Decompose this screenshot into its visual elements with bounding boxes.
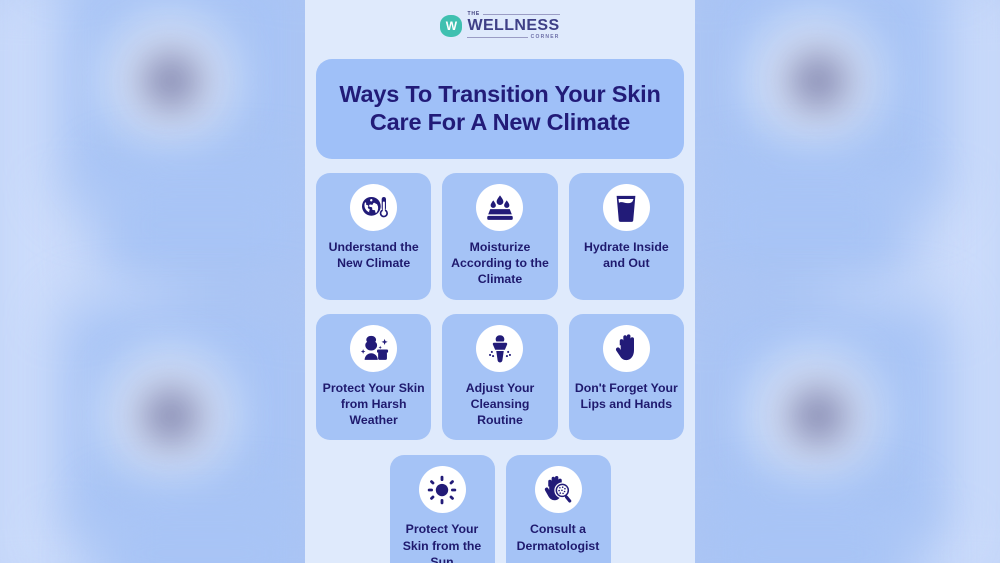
globe-thermometer-icon: [350, 184, 397, 231]
sun-icon: [419, 466, 466, 513]
logo-corner-text: CORNER: [531, 35, 560, 40]
logo-rule-bottom: [467, 37, 527, 38]
tip-card-label: Moisturize According to the Climate: [448, 239, 551, 288]
magnifier-skin-icon: [535, 466, 582, 513]
tip-card-moisturize[interactable]: Moisturize According to the Climate: [442, 173, 557, 300]
tip-card-label: Adjust Your Cleansing Routine: [448, 380, 551, 429]
tip-card-label: Understand the New Climate: [322, 239, 425, 271]
card-row-1: Understand the New Climate Moisturize Ac…: [305, 173, 695, 300]
raised-hand-icon: [603, 325, 650, 372]
page-title: Ways To Transition Your Skin Care For A …: [328, 81, 672, 136]
tip-card-hydrate[interactable]: Hydrate Inside and Out: [569, 173, 684, 300]
tip-card-sun-protection[interactable]: Protect Your Skin from the Sun: [390, 455, 495, 563]
background-dot: [143, 53, 199, 109]
logo-bottom-line: CORNER: [467, 35, 559, 40]
background-tile: [95, 165, 310, 285]
water-drops-cream-icon: [476, 184, 523, 231]
tip-card-label: Hydrate Inside and Out: [575, 239, 678, 271]
showerhead-icon: [476, 325, 523, 372]
tip-card-cleansing-routine[interactable]: Adjust Your Cleansing Routine: [442, 314, 557, 441]
logo-badge-letter: W: [446, 19, 457, 33]
water-glass-icon: [603, 184, 650, 231]
background-dot: [143, 388, 199, 444]
infographic-poster: W THE WELLNESS CORNER Ways To Transition…: [305, 0, 695, 563]
face-cream-jar-icon: [350, 325, 397, 372]
tip-card-harsh-weather[interactable]: Protect Your Skin from Harsh Weather: [316, 314, 431, 441]
tip-card-label: Don't Forget Your Lips and Hands: [575, 380, 678, 412]
wellness-w-badge-icon: W: [440, 15, 462, 37]
background-tile: [700, 498, 915, 563]
logo-wellness-text: WELLNESS: [467, 18, 559, 34]
background-tile: [95, 498, 310, 563]
tip-card-label: Consult a Dermatologist: [512, 521, 605, 553]
background-dot: [790, 53, 846, 109]
brand-logo: W THE WELLNESS CORNER: [305, 0, 695, 52]
tip-card-dermatologist[interactable]: Consult a Dermatologist: [506, 455, 611, 563]
tip-card-label: Protect Your Skin from the Sun: [396, 521, 489, 563]
tip-card-understand-climate[interactable]: Understand the New Climate: [316, 173, 431, 300]
background-tile: [700, 165, 915, 285]
background-dot: [790, 388, 846, 444]
tip-card-lips-hands[interactable]: Don't Forget Your Lips and Hands: [569, 314, 684, 441]
logo-rule-top: [483, 14, 559, 15]
tip-card-label: Protect Your Skin from Harsh Weather: [322, 380, 425, 429]
card-row-3: Protect Your Skin from the Sun: [305, 455, 695, 563]
title-card: Ways To Transition Your Skin Care For A …: [316, 59, 684, 159]
card-row-2: Protect Your Skin from Harsh Weather Adj…: [305, 314, 695, 441]
